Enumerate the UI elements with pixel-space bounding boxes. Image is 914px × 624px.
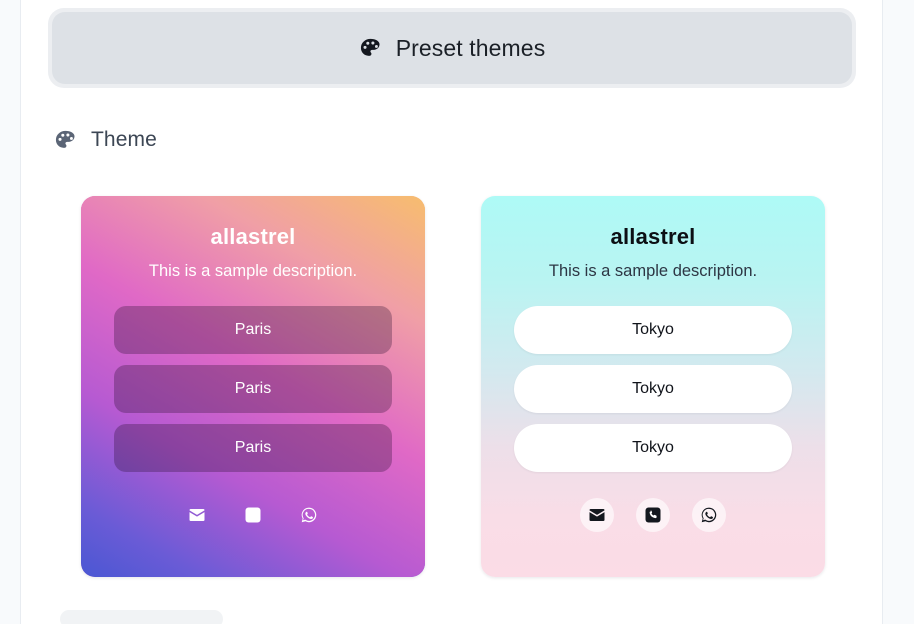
- link-button[interactable]: Paris: [114, 365, 392, 413]
- card-link-list: Tokyo Tokyo Tokyo: [514, 306, 792, 472]
- phone-icon[interactable]: [236, 498, 270, 532]
- theme-card-right[interactable]: allastrel This is a sample description. …: [481, 196, 825, 577]
- page-left-gutter: [0, 0, 21, 624]
- card-social-row: [580, 498, 726, 532]
- link-button[interactable]: Tokyo: [514, 306, 792, 354]
- theme-cards-row: allastrel This is a sample description. …: [81, 196, 826, 577]
- next-section-placeholder: [60, 610, 223, 624]
- card-link-list: Paris Paris Paris: [114, 306, 392, 472]
- email-icon[interactable]: [180, 498, 214, 532]
- page-right-gutter: [882, 0, 914, 624]
- phone-icon[interactable]: [636, 498, 670, 532]
- palette-icon: [359, 37, 382, 60]
- link-button[interactable]: Paris: [114, 424, 392, 472]
- card-title: allastrel: [211, 226, 296, 248]
- card-description: This is a sample description.: [549, 262, 757, 282]
- link-button[interactable]: Paris: [114, 306, 392, 354]
- link-button[interactable]: Tokyo: [514, 424, 792, 472]
- whatsapp-icon[interactable]: [692, 498, 726, 532]
- theme-section-title: Theme: [91, 128, 157, 152]
- preset-themes-container: Preset themes: [48, 8, 856, 88]
- settings-panel: Preset themes Theme allastrel This is a …: [22, 0, 882, 624]
- link-button[interactable]: Tokyo: [514, 365, 792, 413]
- preset-themes-button[interactable]: Preset themes: [52, 12, 852, 84]
- card-title: allastrel: [611, 226, 696, 248]
- card-social-row: [180, 498, 326, 532]
- theme-card-left[interactable]: allastrel This is a sample description. …: [81, 196, 425, 577]
- preset-themes-label: Preset themes: [396, 35, 546, 62]
- whatsapp-icon[interactable]: [292, 498, 326, 532]
- theme-section-header: Theme: [54, 128, 157, 152]
- email-icon[interactable]: [580, 498, 614, 532]
- card-description: This is a sample description.: [149, 262, 357, 282]
- palette-icon: [54, 129, 77, 152]
